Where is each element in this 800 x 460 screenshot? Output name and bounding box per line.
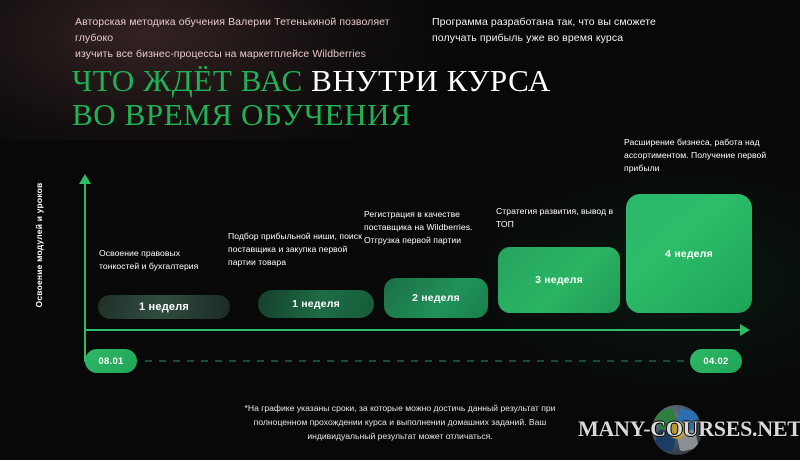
chart-bar-4-label: 3 неделя [535,274,583,286]
chart-bar-1: 1 неделя [98,295,230,319]
chart-bar-2: 1 неделя [258,290,374,318]
page-title-line-2: ВО ВРЕМЯ ОБУЧЕНИЯ [72,98,692,132]
chart-bar-1-label: 1 неделя [139,301,189,313]
x-axis-arrow-icon [740,324,750,336]
header-right-line-2: получать прибыль уже во время курса [432,30,732,46]
chart-bar-5: 4 неделя [626,194,752,313]
x-axis-line [84,329,742,331]
chart-bar-3-label: 2 неделя [412,292,460,304]
watermark: MANY-COURSES.NET [578,404,800,456]
footnote-line-3: индивидуальный результат может отличатьс… [200,429,600,443]
y-axis-label: Освоение модулей и уроков [34,170,44,320]
chart-bar-5-label: 4 неделя [665,248,713,260]
watermark-text: MANY-COURSES.NET [578,416,800,442]
timeline-dashed-line [145,360,685,362]
footnote-line-2: полноценном прохождении курса и выполнен… [200,415,600,429]
footnote-line-1: *На графике указаны сроки, за которые мо… [200,401,600,415]
chart-bar-4: 3 неделя [498,247,620,313]
page-title: ЧТО ЖДЁТ ВАС ВНУТРИ КУРСА ВО ВРЕМЯ ОБУЧЕ… [72,64,692,132]
bar-caption-3: Регистрация в качестве поставщика на Wil… [364,208,504,247]
bar-caption-2: Подбор прибыльной ниши, поиск поставщика… [228,230,368,269]
header-right-text: Программа разработана так, что вы сможет… [432,14,732,46]
timeline-start-date: 08.01 [85,349,137,373]
bar-caption-1: Освоение правовых тонкостей и бухгалтери… [99,247,219,273]
bar-caption-5: Расширение бизнеса, работа над ассортиме… [624,136,794,175]
page-title-green-part: ЧТО ЖДЁТ ВАС [72,63,303,98]
bar-caption-4: Стратегия развития, вывод в ТОП [496,205,631,231]
y-axis-line [84,182,86,362]
page-title-white-part: ВНУТРИ КУРСА [311,63,551,98]
chart-bar-3: 2 неделя [384,278,488,318]
header-left-line-1: Авторская методика обучения Валерии Тете… [75,14,425,46]
slide-canvas: Авторская методика обучения Валерии Тете… [0,0,800,460]
page-title-line-1: ЧТО ЖДЁТ ВАС ВНУТРИ КУРСА [72,64,692,98]
footnote: *На графике указаны сроки, за которые мо… [200,401,600,443]
chart-bar-2-label: 1 неделя [292,298,340,310]
course-timeline-chart: Освоение модулей и уроков Освоение право… [0,130,800,380]
header-left-text: Авторская методика обучения Валерии Тете… [75,14,425,62]
header-left-line-2: изучить все бизнес-процессы на маркетпле… [75,46,425,62]
timeline-end-date: 04.02 [690,349,742,373]
header-right-line-1: Программа разработана так, что вы сможет… [432,14,732,30]
